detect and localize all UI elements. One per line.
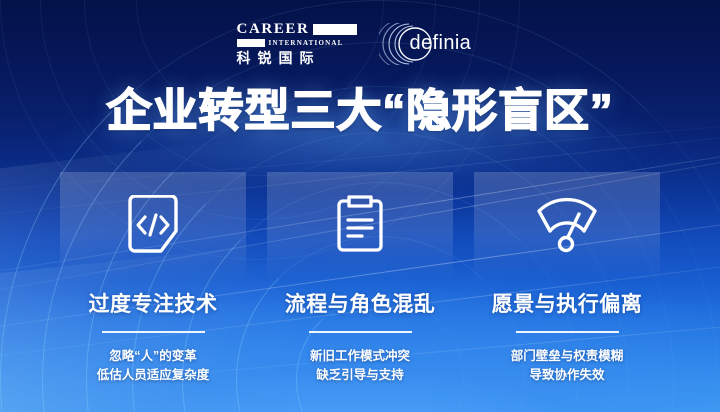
card-subtitle: 新旧工作模式冲突 缺乏引导与支持 (310, 347, 410, 386)
card-subtitle-line1: 忽略“人”的变革 (97, 347, 210, 366)
card-divider (309, 331, 412, 333)
card-divider (516, 331, 619, 333)
card-process-role-confusion: 流程与角色混乱 新旧工作模式冲突 缺乏引导与支持 (267, 172, 453, 386)
definia-logo: definia (379, 23, 483, 65)
card-icon-area (60, 172, 246, 280)
card-subtitle: 忽略“人”的变革 低估人员适应复杂度 (97, 347, 210, 386)
card-title: 流程与角色混乱 (285, 288, 436, 318)
logo-bar: CAREER INTERNATIONAL 科锐国际 definia (0, 22, 720, 66)
card-subtitle: 部门壁垒与权责模糊 导致协作失效 (511, 347, 624, 386)
page-title: 企业转型三大“隐形盲区” (0, 88, 720, 133)
card-title: 愿景与执行偏离 (492, 288, 643, 318)
card-icon-area (474, 172, 660, 280)
poster-canvas: CAREER INTERNATIONAL 科锐国际 definia (0, 0, 720, 412)
card-subtitle-line2: 低估人员适应复杂度 (97, 366, 210, 385)
card-title: 过度专注技术 (89, 288, 218, 318)
card-overfocus-technology: 过度专注技术 忽略“人”的变革 低估人员适应复杂度 (60, 172, 246, 386)
card-icon-area (267, 172, 453, 280)
code-document-icon (125, 195, 181, 257)
card-subtitle-line2: 导致协作失效 (511, 366, 624, 385)
card-divider (102, 331, 205, 333)
card-vision-execution-gap: 愿景与执行偏离 部门壁垒与权责模糊 导致协作失效 (474, 172, 660, 386)
clipboard-lines-icon (333, 195, 387, 257)
card-subtitle-line1: 部门壁垒与权责模糊 (511, 347, 624, 366)
career-logo-block-icon (313, 24, 357, 35)
career-international-wordmark: INTERNATIONAL (269, 40, 344, 47)
card-subtitle-line1: 新旧工作模式冲突 (310, 347, 410, 366)
career-wordmark: CAREER (237, 22, 310, 37)
career-chinese-name: 科锐国际 (237, 51, 321, 66)
card-subtitle-line2: 缺乏引导与支持 (310, 366, 410, 385)
career-logo-block2-icon (237, 39, 265, 47)
definia-wordmark: definia (409, 32, 471, 55)
cards-row: 过度专注技术 忽略“人”的变革 低估人员适应复杂度 流程与角色混乱 (60, 172, 660, 386)
career-international-logo: CAREER INTERNATIONAL 科锐国际 (237, 22, 358, 66)
gauge-meter-icon (534, 197, 600, 255)
